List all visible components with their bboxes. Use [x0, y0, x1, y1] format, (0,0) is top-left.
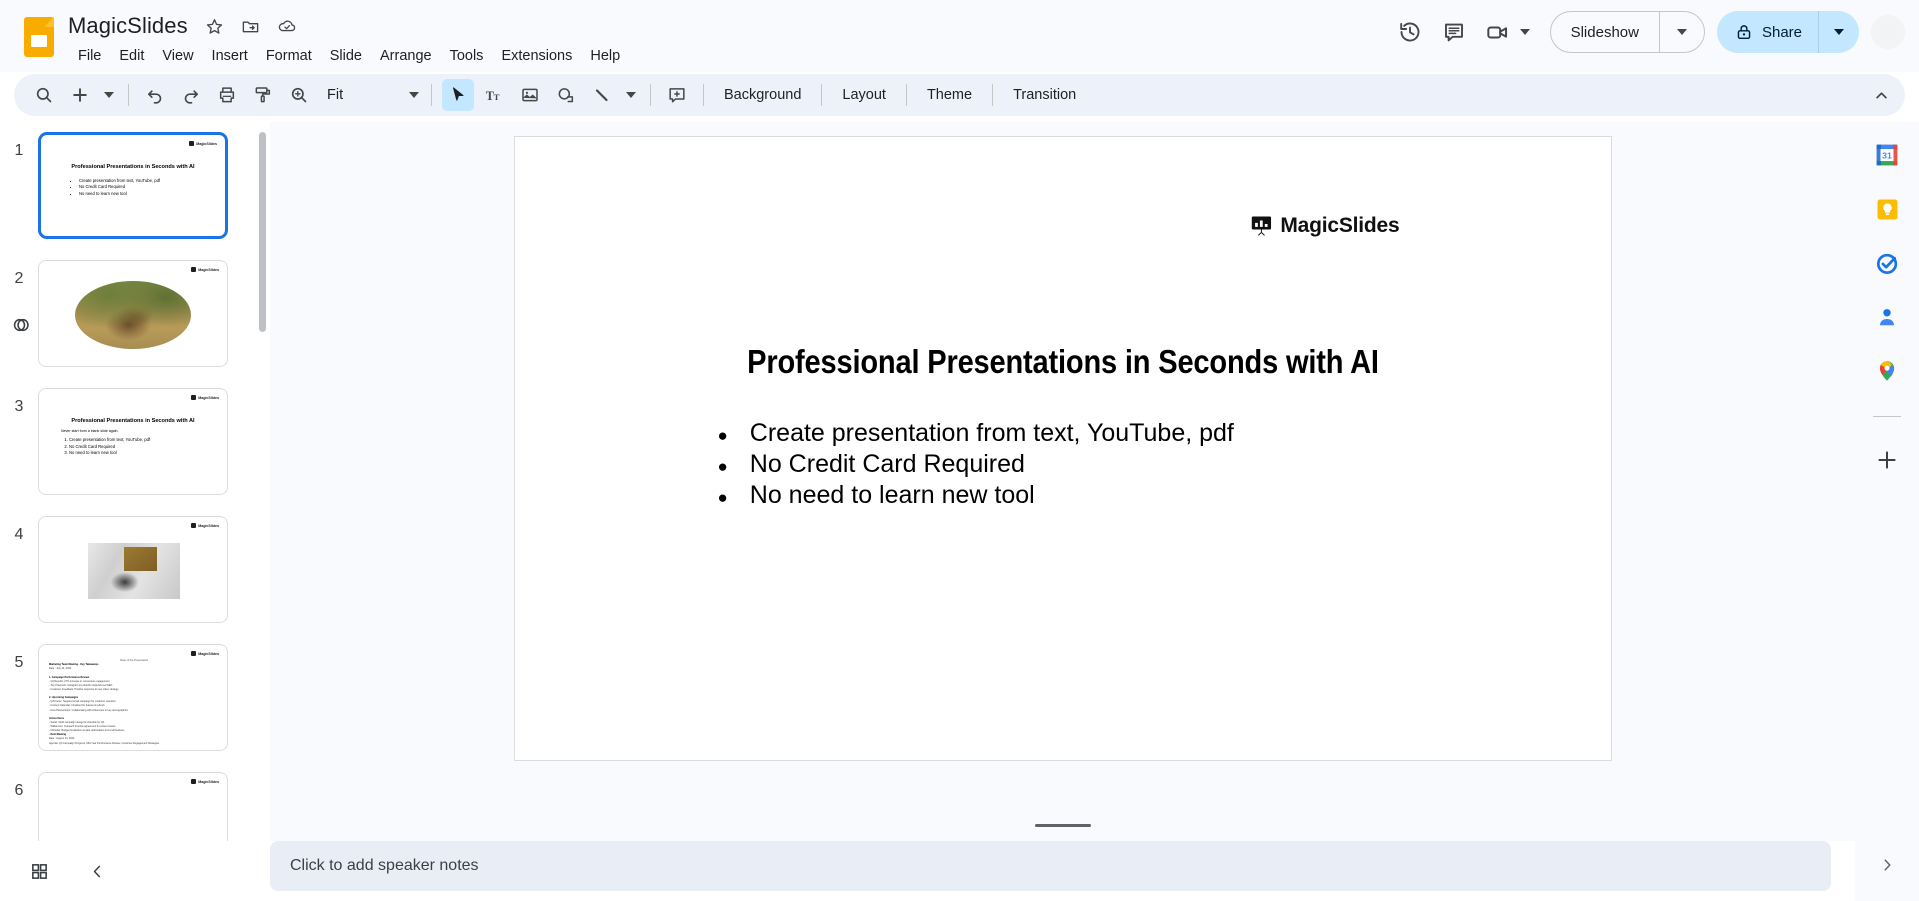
menu-format[interactable]: Format — [257, 45, 321, 67]
version-history-icon[interactable] — [1388, 10, 1432, 54]
speaker-notes-input[interactable]: Click to add speaker notes — [270, 841, 1831, 891]
menu-help[interactable]: Help — [581, 45, 629, 67]
magicslides-watermark-icon: MagicSlides — [191, 651, 219, 656]
divider — [650, 84, 651, 106]
divider — [431, 84, 432, 106]
notes-resize-row — [270, 815, 1855, 841]
title-row: MagicSlides — [68, 10, 629, 42]
workspace: 1 MagicSlides Professional Presentations… — [0, 122, 1919, 901]
bullet-dot-icon: ● — [718, 489, 728, 506]
menu-file[interactable]: File — [69, 45, 110, 67]
redo-icon[interactable] — [175, 79, 207, 111]
undo-icon[interactable] — [139, 79, 171, 111]
chevron-up-icon[interactable] — [1865, 79, 1897, 111]
watermark-label: MagicSlides — [198, 652, 219, 656]
bullet-text: No need to learn new tool — [750, 483, 1035, 508]
slide-filmstrip: 1 MagicSlides Professional Presentations… — [0, 122, 270, 901]
google-maps-icon[interactable] — [1874, 358, 1900, 384]
google-tasks-icon[interactable] — [1874, 250, 1900, 276]
slide-thumbnail-6[interactable]: MagicSlides — [38, 772, 228, 841]
filmstrip-scrollbar[interactable] — [259, 132, 266, 831]
magicslides-watermark-icon: MagicSlides — [191, 779, 219, 784]
slide-number: 3 — [0, 388, 38, 416]
menu-bar: File Edit View Insert Format Slide Arran… — [69, 42, 629, 70]
divider — [128, 84, 129, 106]
slide-thumbnail-1[interactable]: MagicSlides Professional Presentations i… — [38, 132, 228, 239]
divider — [906, 84, 907, 106]
cursor-icon[interactable] — [442, 79, 474, 111]
list-item: ● No Credit Card Required — [718, 452, 1234, 477]
presentation-board-icon — [1250, 215, 1273, 237]
chevron-down-icon — [1677, 29, 1687, 35]
chevron-down-icon — [104, 92, 114, 98]
list-item: 5 MagicSlides Notes of the Presentation … — [0, 644, 270, 772]
bullet-dot-icon: ● — [718, 427, 728, 444]
magicslides-watermark-icon: MagicSlides — [191, 267, 219, 272]
slide-number: 6 — [0, 772, 38, 800]
slideshow-dropdown-button[interactable] — [1660, 12, 1704, 52]
divider — [992, 84, 993, 106]
print-icon[interactable] — [211, 79, 243, 111]
theme-button[interactable]: Theme — [915, 79, 984, 111]
document-title[interactable]: MagicSlides — [68, 13, 190, 39]
slide-thumbnail-2[interactable]: MagicSlides — [38, 260, 228, 367]
chevron-right-icon[interactable] — [1871, 849, 1903, 881]
slide-thumbnail-5[interactable]: MagicSlides Notes of the Presentation Ma… — [38, 644, 228, 751]
share-label: Share — [1762, 24, 1802, 41]
menu-extensions[interactable]: Extensions — [492, 45, 581, 67]
title-and-menus: MagicSlides — [68, 8, 629, 70]
slides-app-logo-icon — [20, 12, 58, 62]
menu-view[interactable]: View — [153, 45, 202, 67]
zoom-level-select[interactable]: Fit — [319, 79, 423, 111]
list-item: 4 MagicSlides — [0, 516, 270, 644]
add-ons-plus-icon[interactable] — [1874, 447, 1900, 473]
transition-button[interactable]: Transition — [1001, 79, 1088, 111]
side-panel-rail: 31 — [1855, 122, 1919, 901]
list-item: 1 MagicSlides Professional Presentations… — [0, 132, 270, 260]
chevron-down-icon — [626, 92, 636, 98]
filmstrip-footer — [0, 841, 270, 901]
divider — [1873, 416, 1901, 417]
slideshow-button[interactable]: Slideshow — [1551, 12, 1659, 52]
chevron-down-icon[interactable] — [1520, 29, 1530, 35]
star-icon[interactable] — [204, 15, 226, 37]
thumb-subtitle: Never start from a blank slide again. — [61, 429, 150, 434]
slide-thumbnail-3[interactable]: MagicSlides Professional Presentations i… — [38, 388, 228, 495]
line-icon[interactable] — [586, 79, 618, 111]
bullet-dot-icon: ● — [718, 458, 728, 475]
add-slide-dropdown-icon[interactable] — [100, 79, 118, 111]
chevron-down-icon — [1834, 29, 1844, 35]
slide-title[interactable]: Professional Presentations in Seconds wi… — [580, 343, 1544, 381]
svg-text:T: T — [493, 91, 499, 101]
line-dropdown-icon[interactable] — [622, 79, 640, 111]
thumb-bullets: Create presentation from text, YouTube, … — [71, 178, 160, 197]
layout-button[interactable]: Layout — [830, 79, 898, 111]
menu-slide[interactable]: Slide — [321, 45, 371, 67]
magicslides-logo: MagicSlides — [1250, 214, 1399, 238]
meet-video-icon[interactable] — [1476, 10, 1520, 54]
toolbar-wrapper: Fit T T — [0, 72, 1919, 122]
thumb-bullet: No need to learn new tool — [69, 450, 150, 456]
watermark-label: MagicSlides — [198, 780, 219, 784]
menu-insert[interactable]: Insert — [203, 45, 257, 67]
chevron-down-icon — [409, 92, 419, 98]
paint-format-icon[interactable] — [247, 79, 279, 111]
search-icon[interactable] — [28, 79, 60, 111]
move-to-folder-icon[interactable] — [240, 15, 262, 37]
main-toolbar: Fit T T — [14, 74, 1905, 116]
watermark-label: MagicSlides — [198, 396, 219, 400]
google-slides-app: MagicSlides — [0, 0, 1919, 901]
watermark-label: MagicSlides — [198, 524, 219, 528]
slide-image-overlay-patch — [124, 547, 157, 571]
bullet-text: No Credit Card Required — [750, 452, 1025, 477]
watermark-label: MagicSlides — [196, 142, 217, 146]
text-box-icon[interactable]: T T — [478, 79, 510, 111]
slide-number: 2 — [0, 260, 38, 288]
calendar-day-number: 31 — [1882, 151, 1892, 161]
zoom-level-value: Fit — [327, 87, 375, 103]
google-calendar-icon[interactable]: 31 — [1874, 142, 1900, 168]
slide-number: 1 — [0, 132, 38, 160]
slide-image-deer-grass — [75, 281, 191, 349]
share-button-group: Share — [1717, 11, 1859, 53]
shape-icon[interactable] — [550, 79, 582, 111]
google-contacts-icon[interactable] — [1874, 304, 1900, 330]
thumb-subtitle-wrap: Never start from a blank slide again. Cr… — [61, 429, 150, 456]
add-comment-icon[interactable] — [661, 79, 693, 111]
thumb-bullet: No need to learn new tool — [79, 191, 160, 197]
list-item: ● No need to learn new tool — [718, 483, 1234, 508]
cloud-saved-icon[interactable] — [276, 15, 298, 37]
image-icon[interactable] — [514, 79, 546, 111]
divider — [821, 84, 822, 106]
menu-edit[interactable]: Edit — [110, 45, 153, 67]
svg-text:T: T — [485, 88, 493, 102]
slide-body-bullets[interactable]: ● Create presentation from text, YouTube… — [718, 421, 1234, 514]
header-actions: Slideshow Share — [1388, 10, 1905, 54]
bullet-text: Create presentation from text, YouTube, … — [750, 421, 1234, 446]
slide-number: 4 — [0, 516, 38, 544]
canvas-column: MagicSlides Professional Presentations i… — [270, 122, 1855, 901]
menu-tools[interactable]: Tools — [441, 45, 493, 67]
magicslides-watermark-icon: MagicSlides — [191, 523, 219, 528]
list-item: 2 MagicSlides — [0, 260, 270, 388]
thumb-bullet: Create presentation from text, YouTube, … — [69, 437, 150, 443]
list-item: 3 MagicSlides Professional Presentations… — [0, 388, 270, 516]
comment-icon[interactable] — [1432, 10, 1476, 54]
speaker-notes-bar: Click to add speaker notes — [270, 841, 1855, 901]
thumb-title: Professional Presentations in Seconds wi… — [41, 164, 225, 170]
skip-slide-icon[interactable] — [10, 314, 32, 336]
zoom-icon[interactable] — [283, 79, 315, 111]
slide-canvas-area: MagicSlides Professional Presentations i… — [270, 122, 1855, 815]
thumb-notes-line: Agenda: Q3 Campaign Progress, Mid-Year P… — [49, 742, 219, 746]
list-item: ● Create presentation from text, YouTube… — [718, 421, 1234, 446]
menu-arrange[interactable]: Arrange — [371, 45, 441, 67]
background-button[interactable]: Background — [712, 79, 813, 111]
slideshow-button-group: Slideshow — [1550, 11, 1705, 53]
google-keep-icon[interactable] — [1874, 196, 1900, 222]
app-header: MagicSlides — [0, 0, 1919, 72]
slide-list: 1 MagicSlides Professional Presentations… — [0, 122, 270, 841]
meet-video-call-button[interactable] — [1476, 10, 1536, 54]
grid-view-icon[interactable] — [22, 854, 56, 888]
add-slide-icon[interactable] — [64, 79, 96, 111]
watermark-label: MagicSlides — [198, 268, 219, 272]
current-slide-canvas[interactable]: MagicSlides Professional Presentations i… — [514, 136, 1612, 761]
divider — [703, 84, 704, 106]
notes-resize-handle[interactable] — [1035, 824, 1091, 827]
magicslides-watermark-icon: MagicSlides — [189, 141, 217, 146]
share-dropdown-button[interactable] — [1819, 11, 1859, 53]
slide-number: 5 — [0, 644, 38, 672]
thumb-notes-text: Notes of the Presentation Marketing Team… — [49, 659, 219, 746]
collapse-filmstrip-icon[interactable] — [80, 854, 114, 888]
list-item: 6 MagicSlides — [0, 772, 270, 841]
logo-text: MagicSlides — [1280, 214, 1399, 238]
lock-icon — [1735, 23, 1753, 41]
slide-thumbnail-4[interactable]: MagicSlides — [38, 516, 228, 623]
user-avatar[interactable] — [1871, 15, 1905, 49]
magicslides-watermark-icon: MagicSlides — [191, 395, 219, 400]
share-button[interactable]: Share — [1717, 11, 1818, 53]
thumb-title: Professional Presentations in Seconds wi… — [39, 418, 227, 424]
scrollbar-thumb[interactable] — [259, 132, 266, 332]
